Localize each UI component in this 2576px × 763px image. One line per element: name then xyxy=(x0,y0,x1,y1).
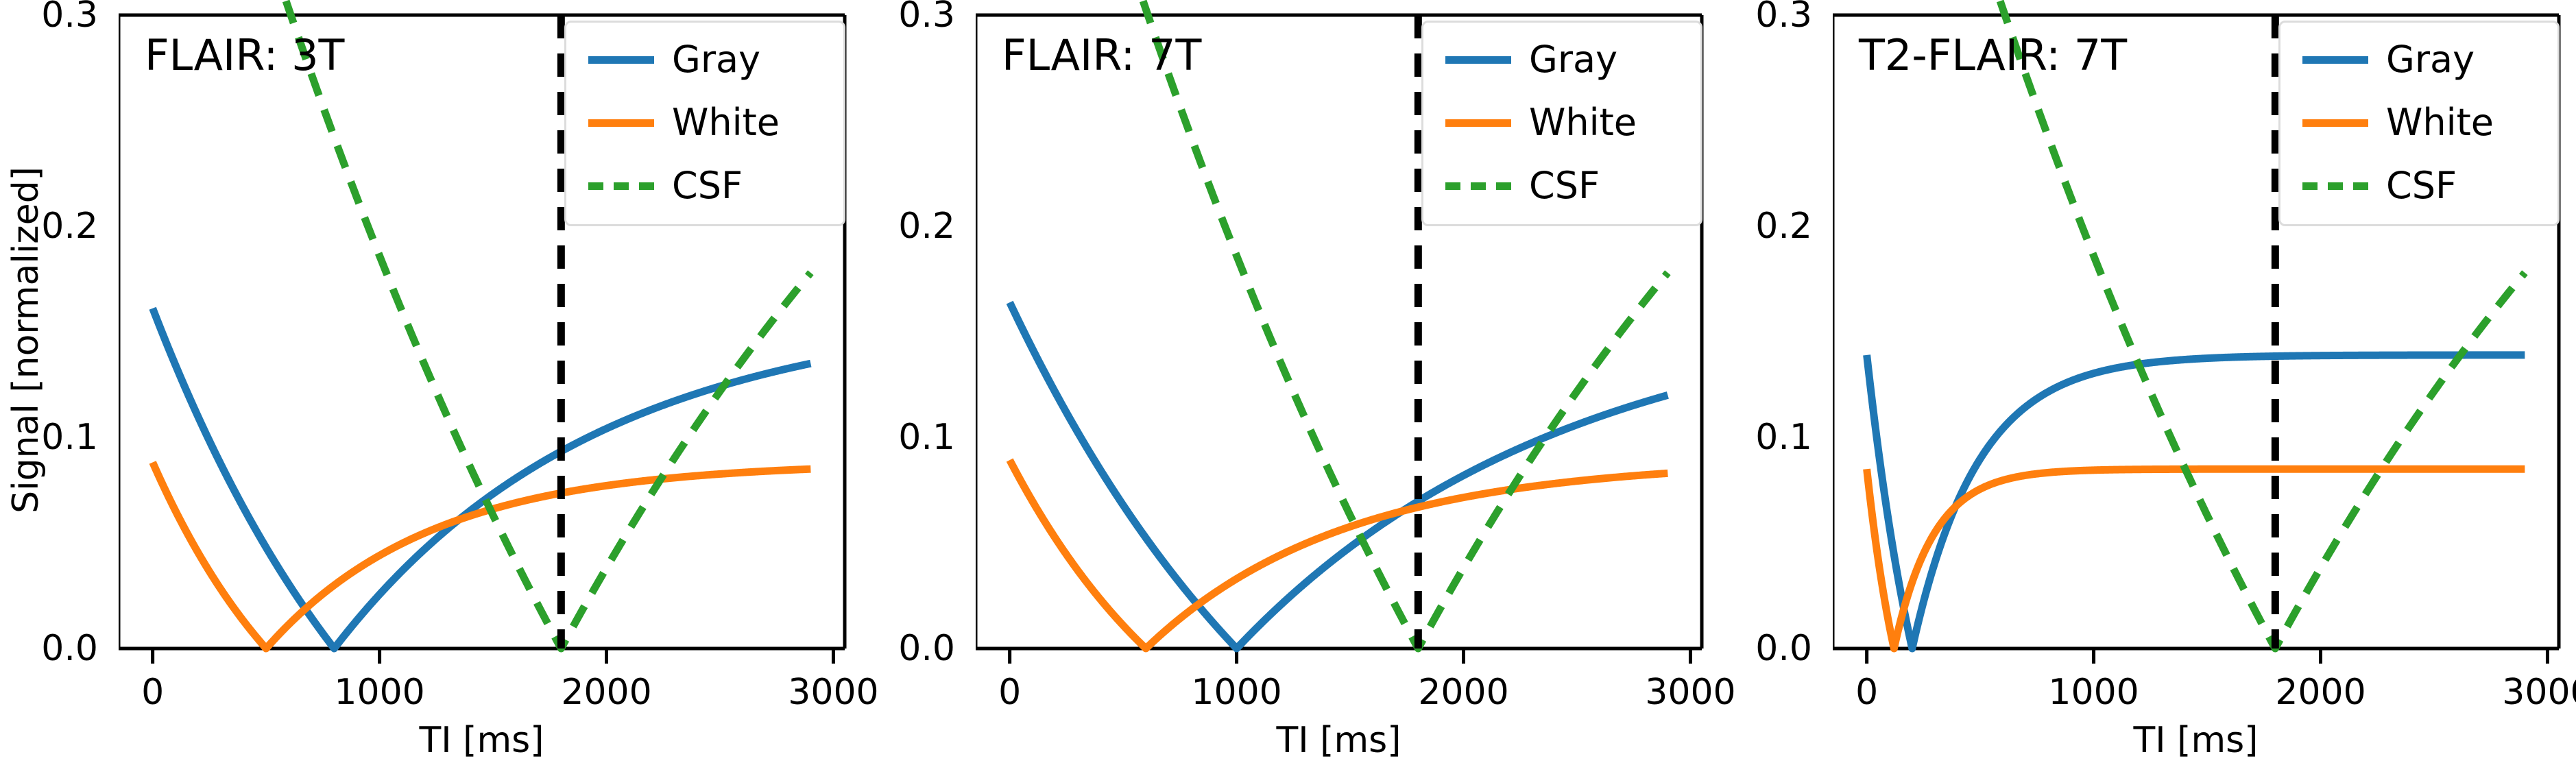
panel-title-1: FLAIR: 3T xyxy=(145,30,344,80)
legend-label: White xyxy=(672,104,780,141)
series-line-white xyxy=(1867,469,2525,649)
panel-title-3: T2-FLAIR: 7T xyxy=(1859,30,2127,80)
legend: GrayWhiteCSF xyxy=(1421,21,1702,226)
x-tick-label: 2000 xyxy=(1418,672,1508,713)
x-tick-label: 2000 xyxy=(561,672,651,713)
x-axis-label: TI [ms] xyxy=(2134,720,2259,761)
x-tick-label: 0 xyxy=(141,672,164,713)
x-tick-label: 1000 xyxy=(2048,672,2139,713)
legend-swatch-white-icon xyxy=(588,119,654,127)
plot-panel-1: 0100020003000TI [ms]0.00.10.20.3FLAIR: 3… xyxy=(119,0,866,763)
x-tick-label: 3000 xyxy=(788,672,878,713)
series-line-gray xyxy=(153,308,811,649)
y-tick-label: 0.3 xyxy=(1720,0,1812,36)
y-tick-label: 0.0 xyxy=(863,628,955,669)
legend-label: Gray xyxy=(672,41,760,78)
plot-panel-3: 0100020003000TI [ms]0.00.10.20.3T2-FLAIR… xyxy=(1833,0,2576,763)
legend-swatch-white-icon xyxy=(1445,119,1511,127)
y-axis-label: Signal [normalized] xyxy=(5,59,47,621)
x-tick-label: 3000 xyxy=(1645,672,1735,713)
y-tick-label: 0.0 xyxy=(1720,628,1812,669)
series-line-white xyxy=(153,462,811,649)
legend-swatch-csf-icon xyxy=(2302,182,2368,190)
legend-swatch-gray-icon xyxy=(1445,56,1511,64)
plot-panel-2: 0100020003000TI [ms]0.00.10.20.3FLAIR: 7… xyxy=(976,0,1723,763)
y-tick-label: 0.1 xyxy=(1720,417,1812,458)
figure-root: Signal [normalized] 0100020003000TI [ms]… xyxy=(0,0,2576,763)
y-tick-label: 0.3 xyxy=(5,0,98,36)
legend-swatch-gray-icon xyxy=(2302,56,2368,64)
y-tick-label: 0.0 xyxy=(5,628,98,669)
legend-item-white[interactable]: White xyxy=(1445,104,1637,142)
legend-item-white[interactable]: White xyxy=(588,104,780,142)
legend-label: White xyxy=(2386,104,2494,141)
y-tick-label: 0.3 xyxy=(863,0,955,36)
x-axis-label: TI [ms] xyxy=(420,720,544,761)
series-line-gray xyxy=(1010,302,1668,649)
y-tick-label: 0.2 xyxy=(863,206,955,247)
legend: GrayWhiteCSF xyxy=(2278,21,2560,226)
legend-label: CSF xyxy=(2386,167,2457,204)
legend-item-csf[interactable]: CSF xyxy=(1445,167,1600,205)
y-tick-label: 0.1 xyxy=(5,417,98,458)
legend-item-csf[interactable]: CSF xyxy=(588,167,743,205)
y-tick-label: 0.2 xyxy=(1720,206,1812,247)
x-tick-label: 0 xyxy=(998,672,1021,713)
legend-swatch-white-icon xyxy=(2302,119,2368,127)
legend-item-gray[interactable]: Gray xyxy=(1445,40,1617,79)
x-tick-label: 3000 xyxy=(2502,672,2576,713)
panel-title-2: FLAIR: 7T xyxy=(1002,30,1201,80)
x-tick-label: 2000 xyxy=(2275,672,2366,713)
y-tick-label: 0.1 xyxy=(863,417,955,458)
legend-label: Gray xyxy=(2386,41,2475,78)
legend-swatch-gray-icon xyxy=(588,56,654,64)
legend-swatch-csf-icon xyxy=(1445,182,1511,190)
x-tick-label: 1000 xyxy=(334,672,424,713)
legend-item-csf[interactable]: CSF xyxy=(2302,167,2457,205)
legend-item-white[interactable]: White xyxy=(2302,104,2494,142)
y-tick-label: 0.2 xyxy=(5,206,98,247)
x-axis-label: TI [ms] xyxy=(1277,720,1401,761)
legend-item-gray[interactable]: Gray xyxy=(588,40,760,79)
legend-item-gray[interactable]: Gray xyxy=(2302,40,2475,79)
legend-label: CSF xyxy=(672,167,743,204)
x-tick-label: 1000 xyxy=(1191,672,1281,713)
legend-label: CSF xyxy=(1529,167,1600,204)
x-tick-label: 0 xyxy=(1855,672,1878,713)
legend: GrayWhiteCSF xyxy=(564,21,845,226)
legend-swatch-csf-icon xyxy=(588,182,654,190)
legend-label: Gray xyxy=(1529,41,1617,78)
legend-label: White xyxy=(1529,104,1637,141)
